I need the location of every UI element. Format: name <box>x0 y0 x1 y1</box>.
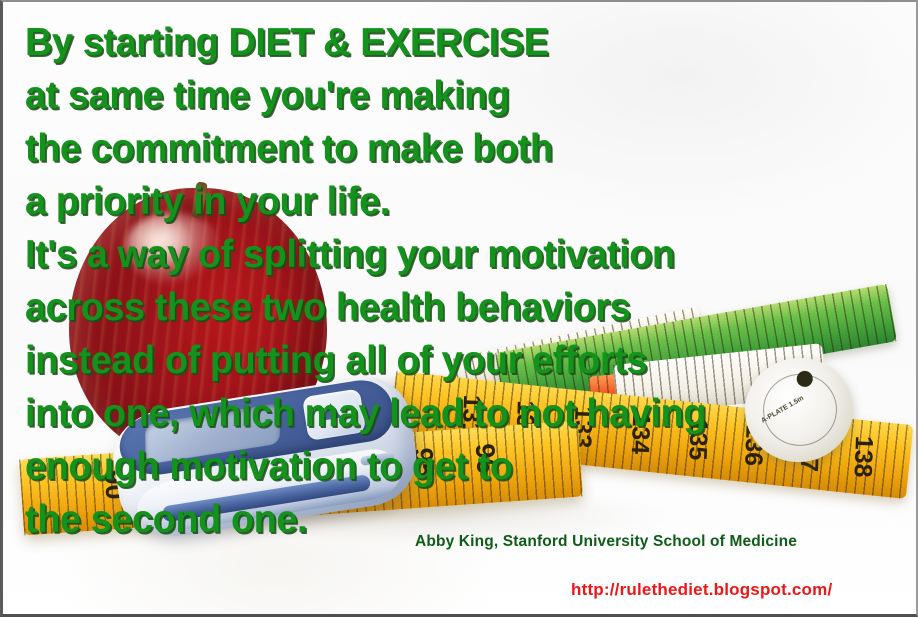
quote-line: By starting DIET & EXERCISE <box>25 16 879 69</box>
quote-line: across these two health behaviors <box>25 281 879 334</box>
quote-line: a priority in your life. <box>25 175 879 228</box>
quote-attribution: Abby King, Stanford University School of… <box>415 533 797 551</box>
quote-line: into one, which may lead to not having <box>25 387 879 440</box>
quote-line: enough motivation to get to <box>25 440 879 493</box>
quote-line: at same time you're making <box>25 69 879 122</box>
quote-text-block: By starting DIET & EXERCISE at same time… <box>25 16 905 546</box>
quote-line: It's a way of splitting your motivation <box>25 228 879 281</box>
source-url: http://rulethediet.blogspot.com/ <box>571 580 832 600</box>
quote-poster: 131 132 133 134 135 136 137 138 90 91 92… <box>0 0 918 617</box>
quote-line: the commitment to make both <box>25 122 879 175</box>
quote-line: instead of putting all of your efforts <box>25 334 879 387</box>
